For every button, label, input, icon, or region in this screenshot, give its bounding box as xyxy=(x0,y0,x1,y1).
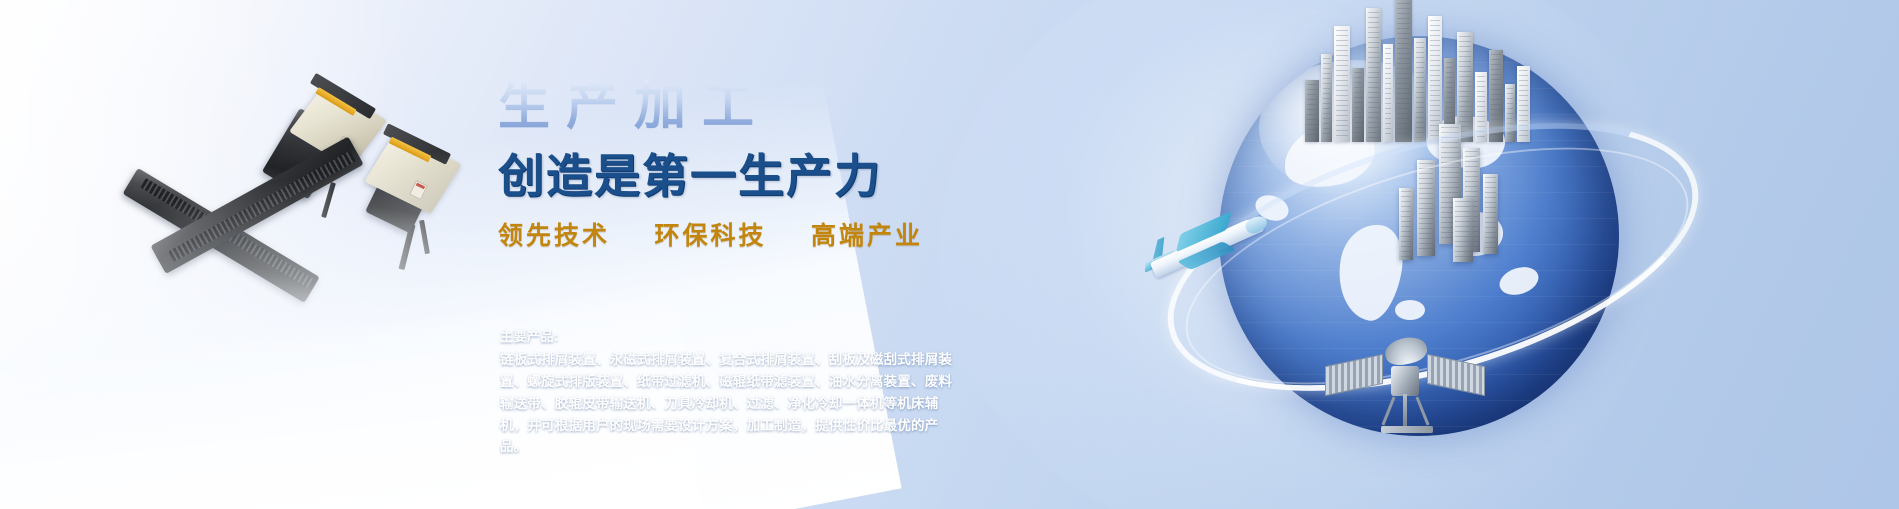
product-description-heading: 主要产品: xyxy=(500,326,956,345)
production-processing-banner: 生产加工 创造是第一生产力 领先技术 环保科技 高端产业 主要产品: 链板式排屑… xyxy=(0,0,1899,509)
satellite-dish xyxy=(1383,334,1429,368)
satellite-mast xyxy=(1403,394,1407,428)
satellite-graphic xyxy=(1317,322,1497,472)
globe-graphic xyxy=(1171,0,1691,509)
support-leg-front xyxy=(399,224,416,270)
satellite-solar-panel-right xyxy=(1427,354,1485,396)
chip-conveyor-machines-graphic xyxy=(150,120,490,320)
building xyxy=(1334,26,1350,142)
tagline-part-1: 领先技术 xyxy=(498,223,610,250)
building xyxy=(1321,54,1332,142)
tagline-part-2: 环保科技 xyxy=(655,223,767,250)
building xyxy=(1366,8,1381,142)
support-leg-front-2 xyxy=(419,220,430,254)
banner-subtitle: 创造是第一生产力 xyxy=(498,140,968,206)
satellite-leg xyxy=(1415,397,1429,426)
building xyxy=(1305,80,1319,142)
building xyxy=(1395,0,1412,142)
product-description-body: 链板式排屑装置、永磁式排屑装置、复合式排屑装置、刮板及磁刮式排屑装置、螺旋式排版… xyxy=(500,349,956,458)
city-skyline-graphic xyxy=(1299,0,1549,142)
product-description-block: 主要产品: 链板式排屑装置、永磁式排屑装置、复合式排屑装置、刮板及磁刮式排屑装置… xyxy=(500,326,956,458)
satellite-base xyxy=(1381,426,1433,433)
support-leg-back xyxy=(321,182,336,218)
building xyxy=(1414,38,1426,142)
banner-tagline: 领先技术 环保科技 高端产业 xyxy=(498,216,968,252)
tagline-part-3: 高端产业 xyxy=(811,223,923,250)
satellite-solar-panel-left xyxy=(1325,354,1383,396)
banner-title: 生产加工 xyxy=(498,78,968,136)
banner-copy: 生产加工 创造是第一生产力 领先技术 环保科技 高端产业 xyxy=(498,78,968,252)
satellite-leg xyxy=(1381,397,1395,426)
building xyxy=(1383,44,1393,142)
building xyxy=(1352,68,1364,142)
satellite-body xyxy=(1391,366,1419,396)
